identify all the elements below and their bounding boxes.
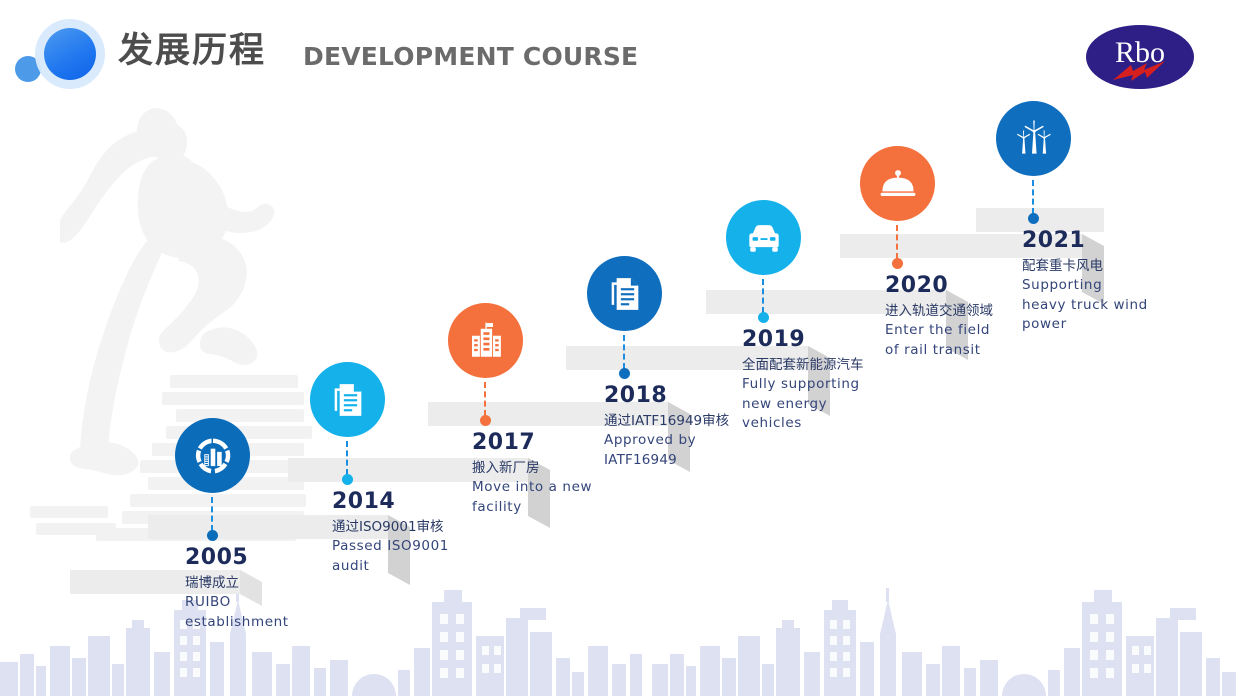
milestone-year: 2017 xyxy=(472,431,592,454)
milestone-title-cn: 搬入新厂房 xyxy=(472,458,592,478)
milestone-icon-badge-2020 xyxy=(860,146,935,221)
logo-text: Rbo xyxy=(1115,36,1165,69)
milestone-title-en-line1: RUIBO xyxy=(185,593,289,613)
milestone-year: 2020 xyxy=(885,274,993,297)
car-icon xyxy=(742,216,786,260)
milestone-title-en-line2: establishment xyxy=(185,613,289,633)
connector-dot-2021 xyxy=(1028,213,1039,224)
documents-icon xyxy=(328,380,368,420)
milestone-year: 2019 xyxy=(742,328,864,351)
timeline-step-8 xyxy=(976,198,1106,232)
milestone-title-en-line2: new energy xyxy=(742,395,864,415)
analytics-chart-icon xyxy=(191,434,235,478)
milestone-text-2018: 2018 通过IATF16949审核 Approved by IATF16949 xyxy=(604,384,729,470)
milestone-title-en-line1: Move into a new xyxy=(472,478,592,498)
milestone-icon-badge-2019 xyxy=(726,200,801,275)
page-title-cn: 发展历程 xyxy=(118,34,266,69)
milestone-title-cn: 瑞博成立 xyxy=(185,573,289,593)
decorative-large-circle xyxy=(44,28,96,80)
milestone-title-en-line3: vehicles xyxy=(742,414,864,434)
connector-dot-2005 xyxy=(207,530,218,541)
wind-turbine-icon xyxy=(1012,117,1056,161)
milestone-text-2005: 2005 瑞博成立 RUIBO establishment xyxy=(185,546,289,632)
milestone-title-en-line3: power xyxy=(1022,315,1148,335)
milestone-icon-badge-2017 xyxy=(448,303,523,378)
milestone-title-en-line1: Fully supporting xyxy=(742,375,864,395)
connector-line-2018 xyxy=(623,335,625,369)
milestone-title-en-line2: facility xyxy=(472,498,592,518)
milestone-title-en-line2: of rail transit xyxy=(885,341,993,361)
connector-line-2019 xyxy=(762,279,764,313)
milestone-title-en-line1: Enter the field xyxy=(885,321,993,341)
milestone-title-cn: 通过IATF16949审核 xyxy=(604,411,729,431)
connector-dot-2014 xyxy=(342,474,353,485)
milestone-text-2017: 2017 搬入新厂房 Move into a new facility xyxy=(472,431,592,517)
milestone-title-cn: 通过ISO9001审核 xyxy=(332,517,449,537)
milestone-text-2020: 2020 进入轨道交通领域 Enter the field of rail tr… xyxy=(885,274,993,360)
decorative-small-circle xyxy=(15,56,41,82)
milestone-title-cn: 全面配套新能源汽车 xyxy=(742,355,864,375)
connector-dot-2017 xyxy=(480,415,491,426)
connector-line-2005 xyxy=(211,497,213,531)
cloche-dome-icon xyxy=(876,162,920,206)
milestone-title-cn: 进入轨道交通领域 xyxy=(885,301,993,321)
milestone-icon-badge-2014 xyxy=(310,362,385,437)
milestone-title-en-line1: Approved by xyxy=(604,431,729,451)
connector-dot-2020 xyxy=(892,258,903,269)
connector-dot-2018 xyxy=(619,368,630,379)
milestone-text-2021: 2021 配套重卡风电 Supporting heavy truck wind … xyxy=(1022,229,1148,335)
milestone-year: 2021 xyxy=(1022,229,1148,252)
milestone-title-en-line1: Passed ISO9001 xyxy=(332,537,449,557)
slide-canvas: 2005 瑞博成立 RUIBO establishment 201 xyxy=(0,0,1236,696)
milestone-icon-badge-2005 xyxy=(175,418,250,493)
page-title-en: DEVELOPMENT COURSE xyxy=(303,44,638,69)
milestone-year: 2014 xyxy=(332,490,449,513)
connector-dot-2019 xyxy=(758,312,769,323)
milestone-year: 2018 xyxy=(604,384,729,407)
documents-icon xyxy=(605,274,645,314)
milestone-title-cn: 配套重卡风电 xyxy=(1022,256,1148,276)
milestone-title-en-line1: Supporting xyxy=(1022,276,1148,296)
milestone-text-2014: 2014 通过ISO9001审核 Passed ISO9001 audit xyxy=(332,490,449,576)
milestone-text-2019: 2019 全面配套新能源汽车 Fully supporting new ener… xyxy=(742,328,864,434)
milestone-icon-badge-2021 xyxy=(996,101,1071,176)
milestone-title-en-line2: IATF16949 xyxy=(604,451,729,471)
connector-line-2021 xyxy=(1032,180,1034,214)
page-header: 发展历程 DEVELOPMENT COURSE xyxy=(0,0,1236,112)
connector-line-2020 xyxy=(896,225,898,259)
connector-line-2014 xyxy=(346,441,348,475)
connector-line-2017 xyxy=(484,382,486,416)
milestone-title-en-line2: heavy truck wind xyxy=(1022,296,1148,316)
milestone-icon-badge-2018 xyxy=(587,256,662,331)
building-icon xyxy=(465,320,507,362)
milestone-title-en-line2: audit xyxy=(332,557,449,577)
milestone-year: 2005 xyxy=(185,546,289,569)
company-logo[interactable]: Rbo xyxy=(1085,22,1195,92)
